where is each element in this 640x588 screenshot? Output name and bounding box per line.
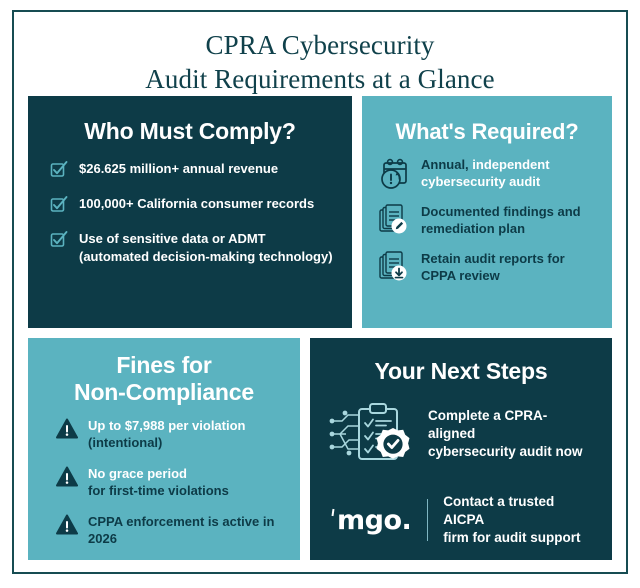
comply-item-list: $26.625 million+ annual revenue 100,000+… [28,151,352,266]
next-steps-cta-text: Complete a CPRA-aligned cybersecurity au… [428,407,594,461]
fines-item-list: Up to $7,988 per violation (intentional)… [28,412,300,547]
list-item: Retain audit reports for CPPA review [378,249,602,285]
list-item-label: Annual, independent cybersecurity audit [421,155,602,190]
panel-heading-required: What's Required? [362,96,612,151]
list-item-label: CPPA enforcement is active in 2026 [88,512,290,547]
list-item: Annual, independent cybersecurity audit [378,155,602,191]
list-item-label: $26.625 million+ annual revenue [79,159,278,178]
infographic-frame: CPRA Cybersecurity Audit Requirements at… [12,10,628,574]
list-item: $26.625 million+ annual revenue [50,159,338,178]
checkbox-checked-icon [50,230,68,248]
list-item-label: No grace period for first-time violation… [88,464,229,499]
list-item-label: Documented findings and remediation plan [421,202,602,237]
list-item: Up to $7,988 per violation (intentional) [56,416,290,451]
clipboard-checklist-badge-icon [328,401,414,467]
panel-heading-comply: Who Must Comply? [28,96,352,151]
list-item: No grace period for first-time violation… [56,464,290,499]
next-steps-cta-line-1: Complete a CPRA-aligned [428,408,547,441]
document-download-icon [378,251,412,285]
list-item: Documented findings and remediation plan [378,202,602,238]
panel-whats-required: What's Required? [362,96,612,328]
brand-contact-line-1: Contact a trusted AICPA [443,494,554,527]
next-steps-cta-row: Complete a CPRA-aligned cybersecurity au… [310,391,612,467]
brand-contact-text: Contact a trusted AICPA firm for audit s… [443,493,596,547]
page-title: CPRA Cybersecurity Audit Requirements at… [14,12,626,106]
list-item-rest: Retain audit reports for CPPA review [421,251,565,283]
list-item-lead: No grace period [88,466,187,481]
brand-contact-line-2: firm for audit support [443,530,580,545]
panel-heading-fines: Fines for Non-Compliance [28,338,300,412]
checkbox-checked-icon [50,160,68,178]
warning-triangle-icon [56,466,78,488]
brand-divider [427,499,428,541]
list-item: CPPA enforcement is active in 2026 [56,512,290,547]
calendar-alert-icon [378,157,412,191]
brand-row: mgo. Contact a trusted AICPA firm for au… [310,467,612,547]
warning-triangle-icon [56,514,78,536]
panel-grid: Who Must Comply? $26.625 million+ annual… [28,96,612,560]
list-item-label: Use of sensitive data or ADMT (automated… [79,229,338,266]
document-edit-icon [378,204,412,238]
list-item-rest: for first-time violations [88,483,229,498]
list-item-rest: (intentional) [88,435,162,450]
mgo-logo-tick-icon [332,508,335,515]
panel-your-next-steps: Your Next Steps [310,338,612,560]
list-item-lead: Up to $7,988 per violation [88,418,246,433]
list-item-label: Retain audit reports for CPPA review [421,249,602,284]
list-item-lead: Annual, [421,157,469,172]
list-item: Use of sensitive data or ADMT (automated… [50,229,338,266]
next-steps-cta-line-2: cybersecurity audit now [428,444,583,459]
warning-triangle-icon [56,418,78,440]
title-line-1: CPRA Cybersecurity [38,28,602,62]
mgo-logo: mgo. [332,505,411,536]
list-item-label: Up to $7,988 per violation (intentional) [88,416,246,451]
panel-who-must-comply: Who Must Comply? $26.625 million+ annual… [28,96,352,328]
checkbox-checked-icon [50,195,68,213]
list-item-rest: CPPA enforcement is active in 2026 [88,514,274,546]
list-item-label: 100,000+ California consumer records [79,194,314,213]
title-line-2: Audit Requirements at a Glance [38,62,602,96]
panel-heading-steps: Your Next Steps [310,338,612,391]
panel-fines-non-compliance: Fines for Non-Compliance Up to $7,988 pe… [28,338,300,560]
required-item-list: Annual, independent cybersecurity audit [362,151,612,285]
list-item: 100,000+ California consumer records [50,194,338,213]
mgo-logo-text: mgo. [337,505,411,536]
panel-heading-fines-line-1: Fines for [38,352,290,379]
panel-heading-fines-line-2: Non-Compliance [38,379,290,406]
list-item-rest: Documented findings and remediation plan [421,204,581,236]
